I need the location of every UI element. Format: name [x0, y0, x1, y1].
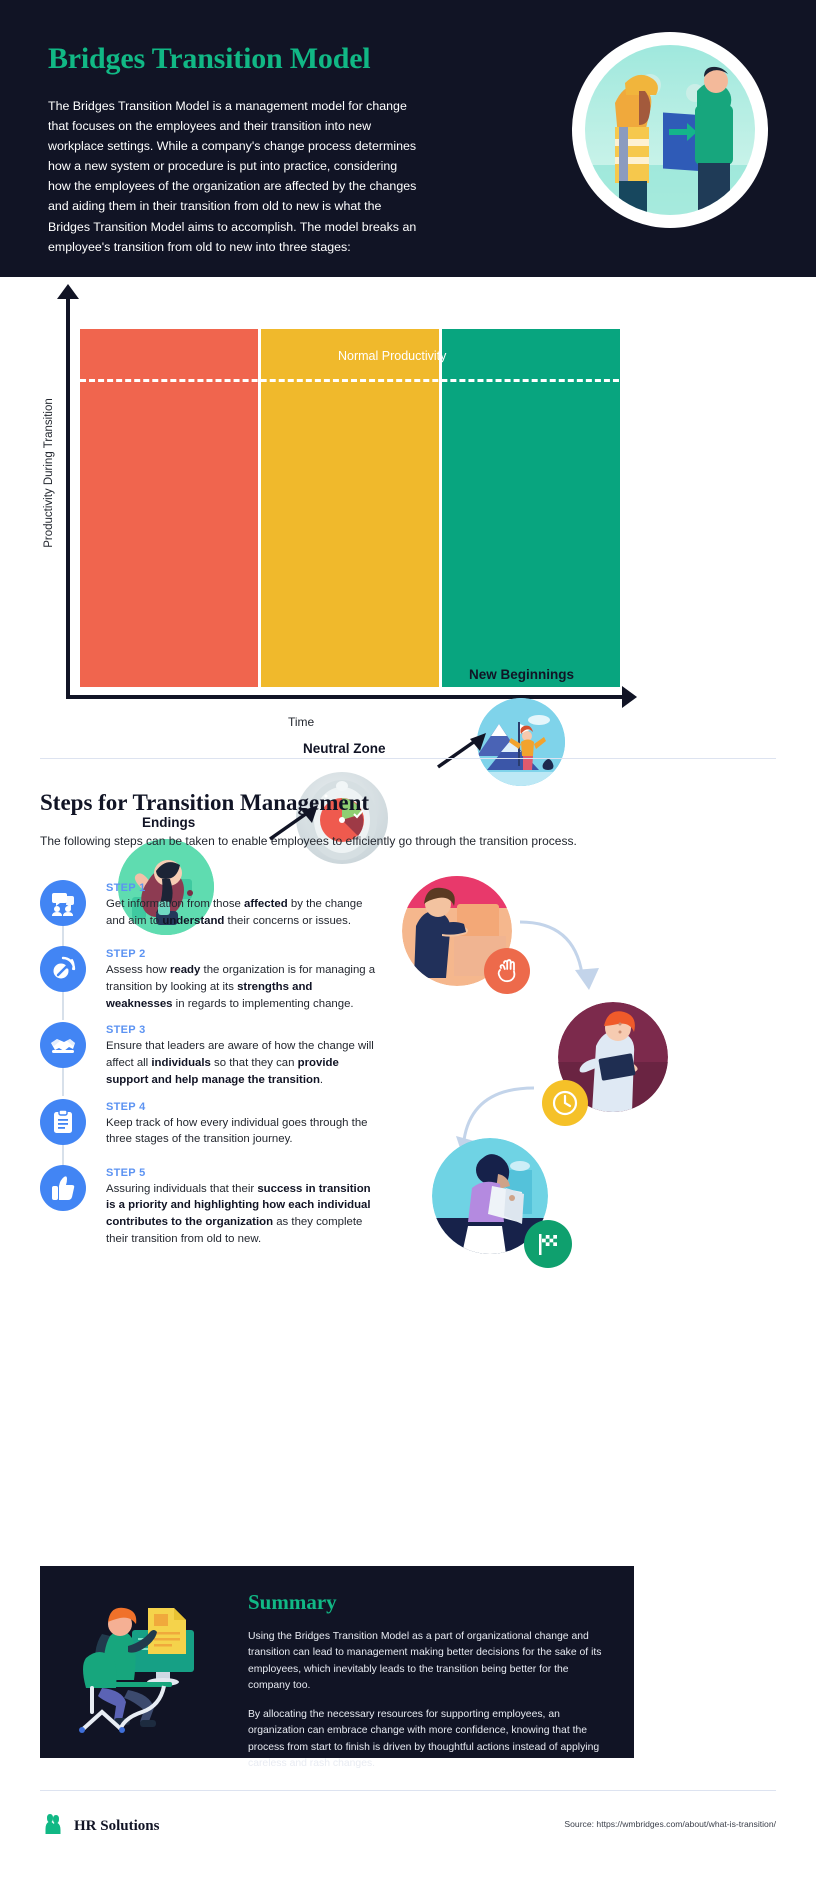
stage-label-neutral-zone: Neutral Zone: [303, 741, 386, 756]
header-illustration-frame: [572, 32, 768, 228]
header-banner: Bridges Transition Model The Bridges Tra…: [0, 0, 816, 277]
steps-subheading: The following steps can be taken to enab…: [40, 834, 816, 848]
band-neutral-zone: [261, 329, 439, 687]
step-text: STEP 5 Assuring individuals that their s…: [92, 1165, 380, 1248]
clipboard-icon: [40, 1099, 86, 1145]
step-kicker: STEP 3: [106, 1024, 380, 1036]
step-bullet: [40, 1022, 92, 1088]
step-kicker: STEP 2: [106, 948, 380, 960]
productivity-chart: Productivity During Transition Time Norm…: [0, 277, 816, 747]
arrow-step1-to-step2: [518, 918, 628, 998]
step-text: STEP 4 Keep track of how every individua…: [92, 1099, 380, 1155]
target-arrow-icon: [40, 946, 86, 992]
normal-productivity-reference-line: [80, 379, 628, 382]
y-axis-line: [66, 297, 70, 697]
step-connector-line: [62, 992, 64, 1020]
neutral-to-new-arrow: [434, 725, 494, 775]
steps-heading: Steps for Transition Management: [40, 790, 816, 816]
chart-bands: [80, 329, 620, 687]
step-text: STEP 1 Get information from those affect…: [92, 880, 380, 936]
step-bullet: [40, 1165, 92, 1248]
steps-list: STEP 1 Get information from those affect…: [40, 880, 380, 1258]
step-description: Assuring individuals that their success …: [106, 1181, 380, 1248]
step-description: Get information from those affected by t…: [106, 896, 380, 930]
person-at-desk-computer-icon: [66, 1590, 238, 1734]
step-kicker: STEP 1: [106, 882, 380, 894]
step-description: Keep track of how every individual goes …: [106, 1115, 380, 1149]
x-axis-label: Time: [288, 715, 314, 729]
list-item[interactable]: STEP 4 Keep track of how every individua…: [40, 1099, 380, 1155]
chat-people-icon: [40, 880, 86, 926]
stage-label-new-beginnings: New Beginnings: [469, 667, 574, 682]
step-text: STEP 3 Ensure that leaders are aware of …: [92, 1022, 380, 1088]
step-kicker: STEP 5: [106, 1167, 380, 1179]
step-connector-line: [62, 1068, 64, 1096]
steps-section: Steps for Transition Management The foll…: [0, 790, 816, 874]
step-kicker: STEP 4: [106, 1101, 380, 1113]
step-text: STEP 2 Assess how ready the organization…: [92, 946, 380, 1012]
x-axis-line: [66, 695, 626, 699]
y-axis-arrowhead: [57, 284, 79, 299]
brand-name: HR Solutions: [74, 1818, 159, 1835]
list-item[interactable]: STEP 1 Get information from those affect…: [40, 880, 380, 936]
brand-logo-group[interactable]: HR Solutions: [40, 1812, 159, 1841]
summary-panel: Summary Using the Bridges Transition Mod…: [40, 1566, 634, 1758]
y-axis-label: Productivity During Transition: [43, 398, 55, 548]
normal-productivity-label: Normal Productivity: [338, 349, 446, 363]
step-description: Ensure that leaders are aware of how the…: [106, 1038, 380, 1088]
band-new-beginnings: [442, 329, 620, 687]
band-endings: [80, 329, 258, 687]
checkered-flag-icon: [524, 1220, 572, 1268]
step-description: Assess how ready the organization is for…: [106, 962, 380, 1012]
clock-icon: [542, 1080, 588, 1126]
step-bullet: [40, 880, 92, 936]
footer-divider: [40, 1790, 776, 1791]
summary-content: Summary Using the Bridges Transition Mod…: [238, 1590, 608, 1734]
list-item[interactable]: STEP 3 Ensure that leaders are aware of …: [40, 1022, 380, 1088]
summary-heading: Summary: [248, 1590, 608, 1615]
handshake-icon: [40, 1022, 86, 1068]
list-item[interactable]: STEP 5 Assuring individuals that their s…: [40, 1165, 380, 1248]
step-bullet: [40, 946, 92, 1012]
two-people-logo-icon: [40, 1812, 64, 1841]
section-divider-top: [40, 758, 776, 759]
summary-paragraph-2: By allocating the necessary resources fo…: [248, 1707, 608, 1773]
x-axis-arrowhead: [622, 686, 637, 708]
list-item[interactable]: STEP 2 Assess how ready the organization…: [40, 946, 380, 1012]
step-bullet: [40, 1099, 92, 1155]
source-attribution: Source: https://wmbridges.com/about/what…: [564, 1819, 776, 1829]
thumbs-up-icon: [40, 1165, 86, 1211]
two-people-handing-bag-icon: [585, 45, 755, 215]
steps-illustrations: [398, 870, 778, 1280]
header-description: The Bridges Transition Model is a manage…: [48, 96, 418, 257]
summary-paragraph-1: Using the Bridges Transition Model as a …: [248, 1629, 608, 1695]
